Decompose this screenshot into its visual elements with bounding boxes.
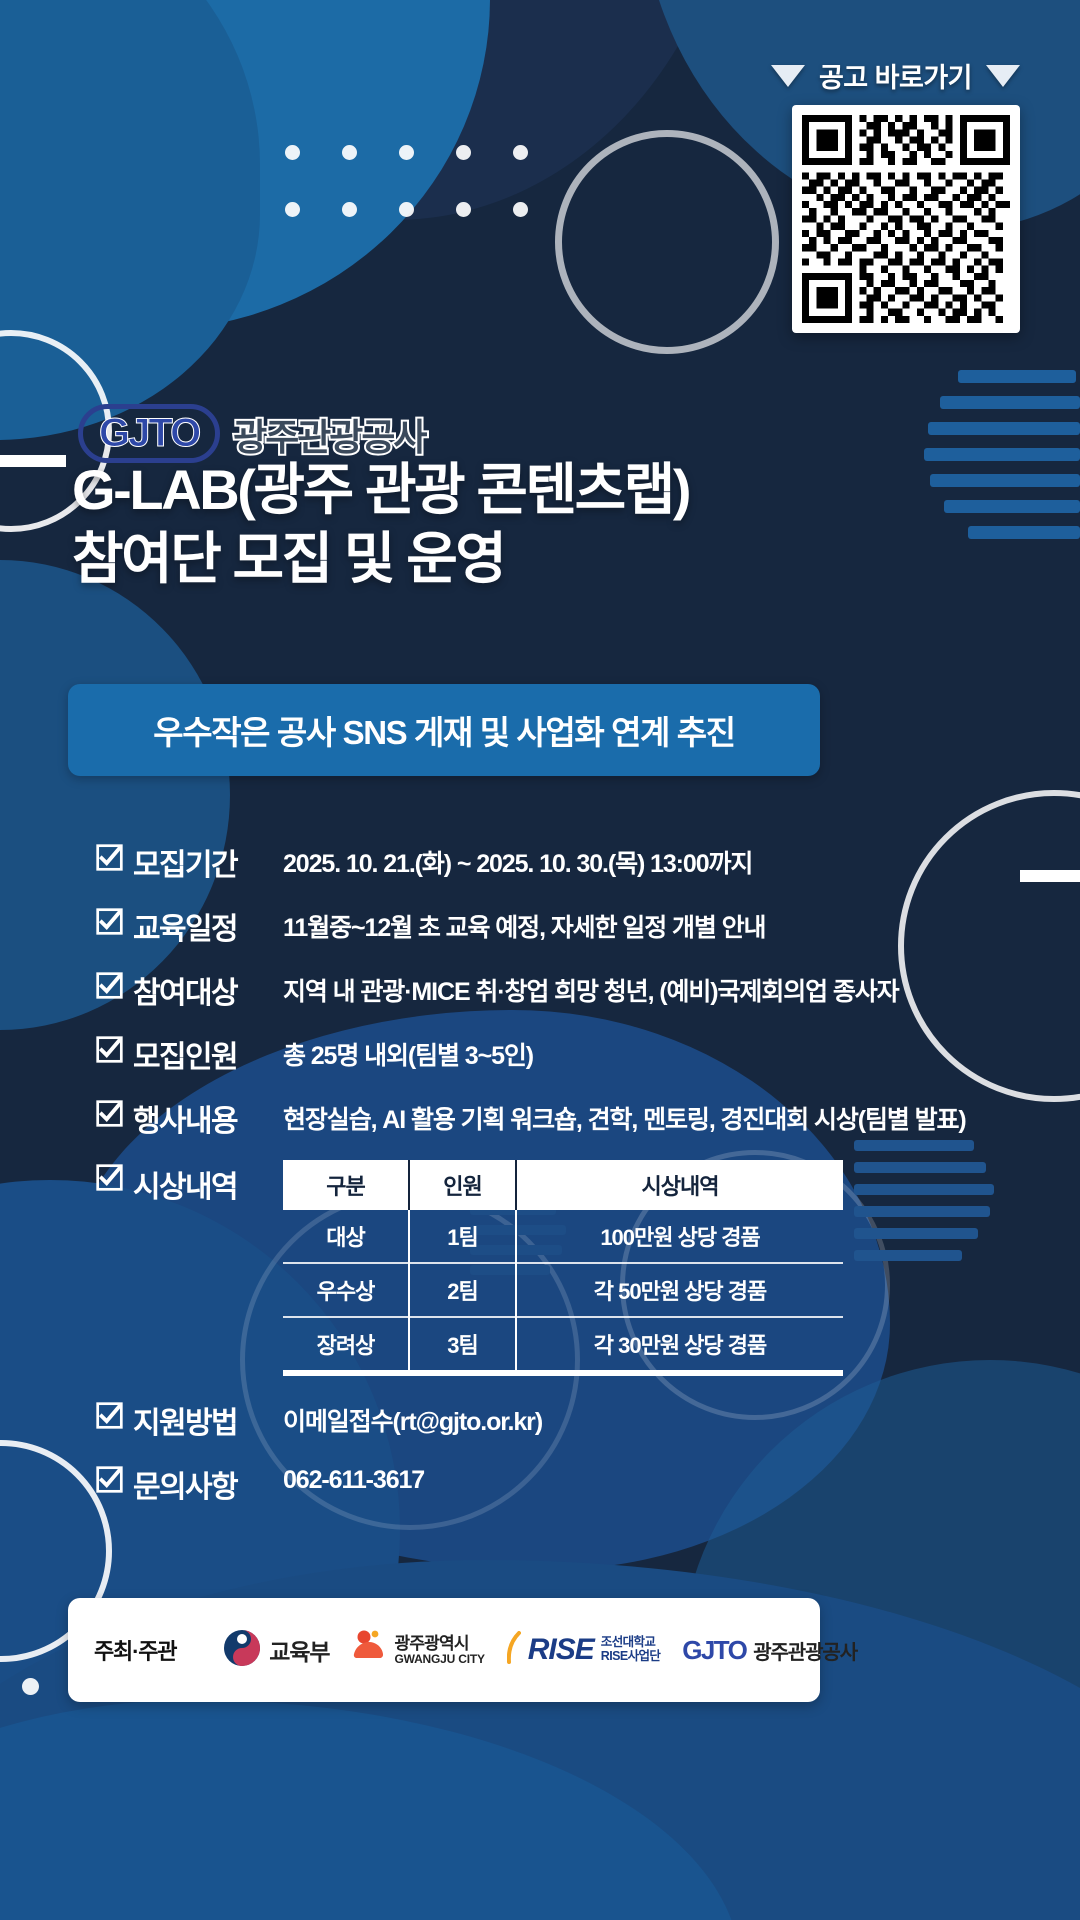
- info-value: 2025. 10. 21.(화) ~ 2025. 10. 30.(목) 13:0…: [283, 840, 752, 880]
- logo-rise-text: 조선대학교 RISE사업단: [601, 1636, 660, 1664]
- info-row: 모집인원 총 25명 내외(팀별 3~5인): [96, 1032, 1016, 1076]
- info-value[interactable]: 062-611-3617: [283, 1462, 424, 1495]
- table-cell: 대상: [283, 1210, 409, 1263]
- logo-rise-sublabel-2: RISE사업단: [601, 1650, 660, 1664]
- awards-label: 시상내역: [133, 1160, 283, 1206]
- decorative-dash: [0, 455, 66, 467]
- check-icon: [96, 1164, 123, 1191]
- gwangju-symbol-icon: [351, 1628, 387, 1673]
- table-cell: 장려상: [283, 1317, 409, 1370]
- decorative-dash: [1020, 870, 1080, 882]
- info-value: 총 25명 내외(팀별 3~5인): [283, 1032, 533, 1072]
- check-icon: [96, 1036, 123, 1063]
- table-row: 대상 1팀 100만원 상당 경품: [283, 1210, 843, 1263]
- decorative-dots: [285, 145, 528, 217]
- table-cell: 100만원 상당 경품: [516, 1210, 843, 1263]
- taegeuk-icon: [222, 1628, 262, 1673]
- table-header-cell: 시상내역: [516, 1160, 843, 1210]
- info-list: 모집기간 2025. 10. 21.(화) ~ 2025. 10. 30.(목)…: [96, 840, 1016, 1526]
- logo-gwangju: 광주광역시 GWANGJU CITY: [351, 1628, 484, 1673]
- info-value: 현장실습, AI 활용 기획 워크숍, 견학, 멘토링, 경진대회 시상(팀별 …: [283, 1096, 966, 1136]
- awards-table-wrap: 구분 인원 시상내역 대상 1팀 100만원 상당 경품 우수상: [283, 1160, 843, 1376]
- logo-gjto: GJTO 광주관광공사: [682, 1635, 857, 1666]
- info-label: 행사내용: [133, 1096, 283, 1140]
- info-label: 모집인원: [133, 1032, 283, 1076]
- logo-gwangju-label: 광주광역시: [394, 1635, 484, 1653]
- info-row: 모집기간 2025. 10. 21.(화) ~ 2025. 10. 30.(목)…: [96, 840, 1016, 884]
- logo-gwangju-text: 광주광역시 GWANGJU CITY: [394, 1635, 484, 1665]
- awards-row: 시상내역 구분 인원 시상내역 대상 1팀 100만원: [96, 1160, 1016, 1376]
- title-line-1: G-LAB(광주 관광 콘텐츠랩): [72, 455, 1002, 524]
- page-title: G-LAB(광주 관광 콘텐츠랩) 참여단 모집 및 운영: [72, 455, 1002, 594]
- table-cell: 각 50만원 상당 경품: [516, 1263, 843, 1317]
- brand-name-label: 광주관광공사: [233, 407, 425, 461]
- info-row: 지원방법 이메일접수(rt@gjto.or.kr): [96, 1398, 1016, 1442]
- decorative-ring: [555, 130, 779, 354]
- table-header-cell: 인원: [409, 1160, 516, 1210]
- info-value[interactable]: 이메일접수(rt@gjto.or.kr): [283, 1398, 542, 1438]
- check-icon: [96, 1402, 123, 1429]
- table-header-row: 구분 인원 시상내역: [283, 1160, 843, 1210]
- table-cell: 1팀: [409, 1210, 516, 1263]
- qr-caption-label: 공고 바로가기: [819, 56, 972, 95]
- logo-moe-label: 교육부: [269, 1633, 329, 1667]
- info-row: 문의사항 062-611-3617: [96, 1462, 1016, 1506]
- check-icon: [96, 844, 123, 871]
- info-value: 지역 내 관광·MICE 취·창업 희망 청년, (예비)국제회의업 종사자: [283, 968, 899, 1008]
- highlight-band: 우수작은 공사 SNS 게재 및 사업화 연계 추진: [68, 684, 820, 776]
- logo-rise: RISE 조선대학교 RISE사업단: [507, 1631, 661, 1670]
- gjto-logo-text: GJTO: [99, 411, 199, 456]
- table-row: 장려상 3팀 각 30만원 상당 경품: [283, 1317, 843, 1370]
- arrow-down-icon: [986, 65, 1020, 87]
- title-line-2: 참여단 모집 및 운영: [72, 524, 1002, 593]
- table-header-cell: 구분: [283, 1160, 409, 1210]
- check-icon: [96, 1466, 123, 1493]
- info-value: 11월중~12월 초 교육 예정, 자세한 일정 개별 안내: [283, 904, 765, 944]
- host-label: 주최·주관: [94, 1634, 200, 1666]
- table-row: 우수상 2팀 각 50만원 상당 경품: [283, 1263, 843, 1317]
- info-row: 교육일정 11월중~12월 초 교육 예정, 자세한 일정 개별 안내: [96, 904, 1016, 948]
- logo-gjto-label: 광주관광공사: [753, 1636, 857, 1665]
- qr-caption-group: 공고 바로가기: [771, 56, 1020, 95]
- info-label: 모집기간: [133, 840, 283, 884]
- info-label: 지원방법: [133, 1398, 283, 1442]
- info-label: 교육일정: [133, 904, 283, 948]
- logo-moe: 교육부: [222, 1628, 329, 1673]
- footer-bar: 주최·주관 교육부: [68, 1598, 820, 1702]
- logo-gwangju-sublabel: GWANGJU CITY: [394, 1653, 484, 1666]
- rise-swoosh-icon: [507, 1631, 521, 1670]
- check-icon: [96, 908, 123, 935]
- info-row: 참여대상 지역 내 관광·MICE 취·창업 희망 청년, (예비)국제회의업 …: [96, 968, 1016, 1012]
- info-row: 행사내용 현장실습, AI 활용 기획 워크숍, 견학, 멘토링, 경진대회 시…: [96, 1096, 1016, 1140]
- qr-code-icon[interactable]: [792, 105, 1020, 333]
- poster-root: 공고 바로가기: [0, 0, 1080, 1920]
- check-icon: [96, 972, 123, 999]
- table-cell: 각 30만원 상당 경품: [516, 1317, 843, 1370]
- arrow-down-icon: [771, 65, 805, 87]
- logo-gjto-mark: GJTO: [682, 1635, 746, 1666]
- check-icon: [96, 1100, 123, 1127]
- footer-logos: 교육부 광주광역시 GWANGJU CITY: [222, 1628, 857, 1673]
- info-label: 참여대상: [133, 968, 283, 1012]
- logo-rise-label: RISE: [528, 1633, 594, 1667]
- info-label: 문의사항: [133, 1462, 283, 1506]
- background-shape-bottom-2: [0, 1700, 740, 1920]
- logo-rise-sublabel-1: 조선대학교: [601, 1636, 660, 1650]
- table-cell: 우수상: [283, 1263, 409, 1317]
- table-cell: 3팀: [409, 1317, 516, 1370]
- awards-table: 구분 인원 시상내역 대상 1팀 100만원 상당 경품 우수상: [283, 1160, 843, 1370]
- highlight-band-label: 우수작은 공사 SNS 게재 및 사업화 연계 추진: [153, 706, 734, 754]
- table-cell: 2팀: [409, 1263, 516, 1317]
